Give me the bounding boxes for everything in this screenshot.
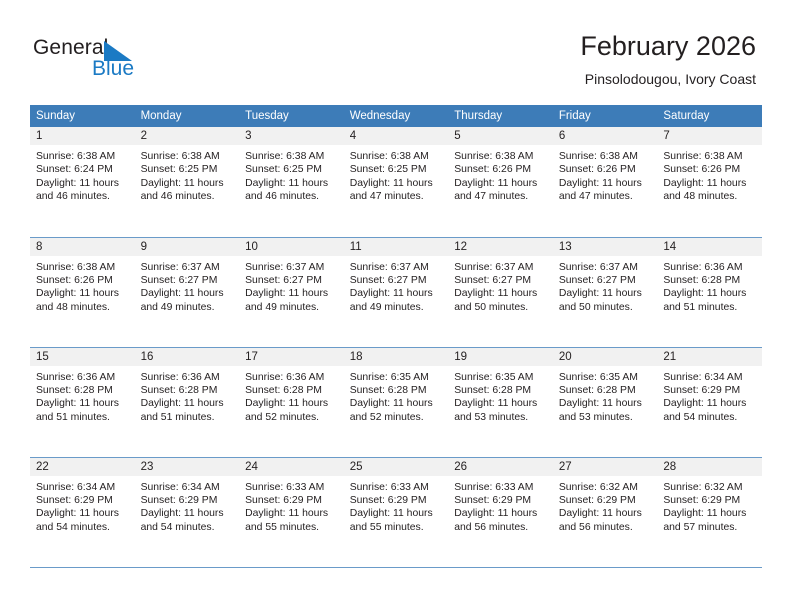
day-cell[interactable]: 16 Sunrise: 6:36 AM Sunset: 6:28 PM Dayl… [135, 347, 240, 457]
weekday-header-tuesday: Tuesday [239, 105, 344, 127]
weekday-header-sunday: Sunday [30, 105, 135, 127]
sunset-text: Sunset: 6:29 PM [663, 384, 757, 397]
day-cell[interactable]: 10 Sunrise: 6:37 AM Sunset: 6:27 PM Dayl… [239, 237, 344, 347]
sunset-text: Sunset: 6:29 PM [454, 494, 548, 507]
day-cell[interactable]: 5 Sunrise: 6:38 AM Sunset: 6:26 PM Dayli… [448, 127, 553, 237]
day-info: Sunrise: 6:34 AM Sunset: 6:29 PM Dayligh… [135, 476, 240, 535]
calendar-page: General Blue February 2026 Pinsolodougou… [0, 0, 792, 612]
day-number: 18 [344, 348, 449, 366]
sunrise-text: Sunrise: 6:37 AM [141, 261, 235, 274]
daylight-text-line1: Daylight: 11 hours [350, 287, 444, 300]
sunset-text: Sunset: 6:27 PM [454, 274, 548, 287]
daylight-text-line2: and 52 minutes. [245, 411, 339, 424]
week-row: 22 Sunrise: 6:34 AM Sunset: 6:29 PM Dayl… [30, 457, 762, 567]
sunset-text: Sunset: 6:29 PM [36, 494, 130, 507]
sunrise-text: Sunrise: 6:33 AM [454, 481, 548, 494]
daylight-text-line2: and 47 minutes. [454, 190, 548, 203]
day-number: 26 [448, 458, 553, 476]
weekday-header-monday: Monday [135, 105, 240, 127]
day-info: Sunrise: 6:35 AM Sunset: 6:28 PM Dayligh… [553, 366, 658, 425]
day-info: Sunrise: 6:33 AM Sunset: 6:29 PM Dayligh… [239, 476, 344, 535]
daylight-text-line1: Daylight: 11 hours [245, 397, 339, 410]
sunset-text: Sunset: 6:29 PM [141, 494, 235, 507]
sunrise-text: Sunrise: 6:36 AM [245, 371, 339, 384]
daylight-text-line2: and 54 minutes. [141, 521, 235, 534]
day-number: 19 [448, 348, 553, 366]
sunrise-text: Sunrise: 6:33 AM [350, 481, 444, 494]
daylight-text-line2: and 55 minutes. [245, 521, 339, 534]
daylight-text-line2: and 49 minutes. [141, 301, 235, 314]
daylight-text-line1: Daylight: 11 hours [350, 177, 444, 190]
day-cell[interactable]: 23 Sunrise: 6:34 AM Sunset: 6:29 PM Dayl… [135, 457, 240, 567]
day-cell[interactable]: 6 Sunrise: 6:38 AM Sunset: 6:26 PM Dayli… [553, 127, 658, 237]
sunrise-text: Sunrise: 6:35 AM [454, 371, 548, 384]
daylight-text-line2: and 53 minutes. [454, 411, 548, 424]
day-number: 21 [657, 348, 762, 366]
sunset-text: Sunset: 6:25 PM [141, 163, 235, 176]
sunset-text: Sunset: 6:24 PM [36, 163, 130, 176]
day-info: Sunrise: 6:37 AM Sunset: 6:27 PM Dayligh… [553, 256, 658, 315]
day-info: Sunrise: 6:34 AM Sunset: 6:29 PM Dayligh… [657, 366, 762, 425]
day-cell[interactable]: 2 Sunrise: 6:38 AM Sunset: 6:25 PM Dayli… [135, 127, 240, 237]
day-cell[interactable]: 1 Sunrise: 6:38 AM Sunset: 6:24 PM Dayli… [30, 127, 135, 237]
day-number: 1 [30, 127, 135, 145]
sunrise-text: Sunrise: 6:37 AM [559, 261, 653, 274]
daylight-text-line2: and 51 minutes. [141, 411, 235, 424]
sunset-text: Sunset: 6:26 PM [454, 163, 548, 176]
week-row: 8 Sunrise: 6:38 AM Sunset: 6:26 PM Dayli… [30, 237, 762, 347]
day-number: 2 [135, 127, 240, 145]
daylight-text-line2: and 51 minutes. [663, 301, 757, 314]
daylight-text-line2: and 47 minutes. [559, 190, 653, 203]
sunset-text: Sunset: 6:29 PM [350, 494, 444, 507]
sunrise-text: Sunrise: 6:32 AM [663, 481, 757, 494]
daylight-text-line1: Daylight: 11 hours [36, 507, 130, 520]
sunrise-text: Sunrise: 6:37 AM [245, 261, 339, 274]
sunrise-text: Sunrise: 6:38 AM [454, 150, 548, 163]
daylight-text-line2: and 57 minutes. [663, 521, 757, 534]
daylight-text-line1: Daylight: 11 hours [454, 287, 548, 300]
sunset-text: Sunset: 6:27 PM [141, 274, 235, 287]
weekday-header-saturday: Saturday [657, 105, 762, 127]
daylight-text-line2: and 47 minutes. [350, 190, 444, 203]
daylight-text-line2: and 46 minutes. [36, 190, 130, 203]
sunset-text: Sunset: 6:26 PM [36, 274, 130, 287]
day-info: Sunrise: 6:37 AM Sunset: 6:27 PM Dayligh… [448, 256, 553, 315]
daylight-text-line2: and 51 minutes. [36, 411, 130, 424]
daylight-text-line1: Daylight: 11 hours [245, 507, 339, 520]
sunrise-text: Sunrise: 6:38 AM [36, 150, 130, 163]
weekday-header-thursday: Thursday [448, 105, 553, 127]
sunset-text: Sunset: 6:29 PM [663, 494, 757, 507]
day-info: Sunrise: 6:32 AM Sunset: 6:29 PM Dayligh… [657, 476, 762, 535]
day-cell[interactable]: 22 Sunrise: 6:34 AM Sunset: 6:29 PM Dayl… [30, 457, 135, 567]
sunrise-text: Sunrise: 6:34 AM [663, 371, 757, 384]
sunset-text: Sunset: 6:25 PM [245, 163, 339, 176]
day-cell[interactable]: 25 Sunrise: 6:33 AM Sunset: 6:29 PM Dayl… [344, 457, 449, 567]
day-cell[interactable]: 28 Sunrise: 6:32 AM Sunset: 6:29 PM Dayl… [657, 457, 762, 567]
daylight-text-line1: Daylight: 11 hours [663, 177, 757, 190]
day-cell[interactable]: 11 Sunrise: 6:37 AM Sunset: 6:27 PM Dayl… [344, 237, 449, 347]
day-number: 27 [553, 458, 658, 476]
day-info: Sunrise: 6:38 AM Sunset: 6:26 PM Dayligh… [657, 145, 762, 204]
sunset-text: Sunset: 6:27 PM [245, 274, 339, 287]
day-cell[interactable]: 19 Sunrise: 6:35 AM Sunset: 6:28 PM Dayl… [448, 347, 553, 457]
daylight-text-line2: and 48 minutes. [36, 301, 130, 314]
day-cell[interactable]: 13 Sunrise: 6:37 AM Sunset: 6:27 PM Dayl… [553, 237, 658, 347]
daylight-text-line2: and 54 minutes. [36, 521, 130, 534]
day-info: Sunrise: 6:33 AM Sunset: 6:29 PM Dayligh… [448, 476, 553, 535]
daylight-text-line1: Daylight: 11 hours [454, 177, 548, 190]
daylight-text-line1: Daylight: 11 hours [245, 177, 339, 190]
sunset-text: Sunset: 6:28 PM [559, 384, 653, 397]
daylight-text-line1: Daylight: 11 hours [350, 507, 444, 520]
weekday-header-wednesday: Wednesday [344, 105, 449, 127]
day-number: 9 [135, 238, 240, 256]
daylight-text-line1: Daylight: 11 hours [559, 287, 653, 300]
day-cell[interactable]: 8 Sunrise: 6:38 AM Sunset: 6:26 PM Dayli… [30, 237, 135, 347]
day-info: Sunrise: 6:36 AM Sunset: 6:28 PM Dayligh… [30, 366, 135, 425]
daylight-text-line1: Daylight: 11 hours [245, 287, 339, 300]
day-info: Sunrise: 6:38 AM Sunset: 6:26 PM Dayligh… [553, 145, 658, 204]
day-cell[interactable]: 9 Sunrise: 6:37 AM Sunset: 6:27 PM Dayli… [135, 237, 240, 347]
week-row: 1 Sunrise: 6:38 AM Sunset: 6:24 PM Dayli… [30, 127, 762, 237]
day-number: 6 [553, 127, 658, 145]
daylight-text-line2: and 49 minutes. [350, 301, 444, 314]
day-info: Sunrise: 6:38 AM Sunset: 6:25 PM Dayligh… [239, 145, 344, 204]
daylight-text-line2: and 53 minutes. [559, 411, 653, 424]
day-info: Sunrise: 6:35 AM Sunset: 6:28 PM Dayligh… [448, 366, 553, 425]
sunrise-text: Sunrise: 6:36 AM [36, 371, 130, 384]
day-info: Sunrise: 6:37 AM Sunset: 6:27 PM Dayligh… [239, 256, 344, 315]
sunset-text: Sunset: 6:28 PM [663, 274, 757, 287]
sunrise-text: Sunrise: 6:35 AM [559, 371, 653, 384]
daylight-text-line1: Daylight: 11 hours [141, 287, 235, 300]
sunrise-text: Sunrise: 6:37 AM [350, 261, 444, 274]
sunset-text: Sunset: 6:28 PM [350, 384, 444, 397]
sunset-text: Sunset: 6:28 PM [141, 384, 235, 397]
day-number: 12 [448, 238, 553, 256]
daylight-text-line1: Daylight: 11 hours [141, 397, 235, 410]
daylight-text-line2: and 54 minutes. [663, 411, 757, 424]
day-number: 3 [239, 127, 344, 145]
sunset-text: Sunset: 6:28 PM [36, 384, 130, 397]
sunset-text: Sunset: 6:28 PM [245, 384, 339, 397]
day-cell[interactable]: 20 Sunrise: 6:35 AM Sunset: 6:28 PM Dayl… [553, 347, 658, 457]
day-number: 11 [344, 238, 449, 256]
day-info: Sunrise: 6:34 AM Sunset: 6:29 PM Dayligh… [30, 476, 135, 535]
daylight-text-line1: Daylight: 11 hours [36, 177, 130, 190]
day-info: Sunrise: 6:36 AM Sunset: 6:28 PM Dayligh… [239, 366, 344, 425]
sunset-text: Sunset: 6:27 PM [350, 274, 444, 287]
page-header: General Blue February 2026 Pinsolodougou… [0, 0, 792, 104]
sunrise-text: Sunrise: 6:38 AM [350, 150, 444, 163]
sunrise-text: Sunrise: 6:37 AM [454, 261, 548, 274]
sunset-text: Sunset: 6:29 PM [559, 494, 653, 507]
daylight-text-line2: and 48 minutes. [663, 190, 757, 203]
brand-name-blue: Blue [92, 57, 134, 81]
day-number: 14 [657, 238, 762, 256]
day-number: 15 [30, 348, 135, 366]
sunset-text: Sunset: 6:28 PM [454, 384, 548, 397]
day-number: 17 [239, 348, 344, 366]
week-row: 15 Sunrise: 6:36 AM Sunset: 6:28 PM Dayl… [30, 347, 762, 457]
sunrise-text: Sunrise: 6:34 AM [36, 481, 130, 494]
daylight-text-line2: and 56 minutes. [454, 521, 548, 534]
day-number: 5 [448, 127, 553, 145]
weekday-header-friday: Friday [553, 105, 658, 127]
day-info: Sunrise: 6:38 AM Sunset: 6:26 PM Dayligh… [30, 256, 135, 315]
daylight-text-line1: Daylight: 11 hours [559, 397, 653, 410]
day-info: Sunrise: 6:37 AM Sunset: 6:27 PM Dayligh… [135, 256, 240, 315]
day-number: 13 [553, 238, 658, 256]
daylight-text-line1: Daylight: 11 hours [36, 287, 130, 300]
day-info: Sunrise: 6:38 AM Sunset: 6:24 PM Dayligh… [30, 145, 135, 204]
day-cell[interactable]: 17 Sunrise: 6:36 AM Sunset: 6:28 PM Dayl… [239, 347, 344, 457]
day-info: Sunrise: 6:37 AM Sunset: 6:27 PM Dayligh… [344, 256, 449, 315]
day-number: 8 [30, 238, 135, 256]
daylight-text-line2: and 56 minutes. [559, 521, 653, 534]
day-cell[interactable]: 27 Sunrise: 6:32 AM Sunset: 6:29 PM Dayl… [553, 457, 658, 567]
daylight-text-line1: Daylight: 11 hours [350, 397, 444, 410]
daylight-text-line2: and 50 minutes. [454, 301, 548, 314]
day-cell[interactable]: 18 Sunrise: 6:35 AM Sunset: 6:28 PM Dayl… [344, 347, 449, 457]
brand-logo[interactable]: General Blue [33, 36, 233, 84]
day-number: 10 [239, 238, 344, 256]
sunrise-text: Sunrise: 6:36 AM [663, 261, 757, 274]
day-cell[interactable]: 14 Sunrise: 6:36 AM Sunset: 6:28 PM Dayl… [657, 237, 762, 347]
page-subtitle: Pinsolodougou, Ivory Coast [580, 69, 756, 89]
day-cell[interactable]: 3 Sunrise: 6:38 AM Sunset: 6:25 PM Dayli… [239, 127, 344, 237]
daylight-text-line1: Daylight: 11 hours [454, 397, 548, 410]
calendar-body: 1 Sunrise: 6:38 AM Sunset: 6:24 PM Dayli… [30, 127, 762, 567]
daylight-text-line1: Daylight: 11 hours [663, 287, 757, 300]
sunrise-text: Sunrise: 6:38 AM [141, 150, 235, 163]
day-info: Sunrise: 6:38 AM Sunset: 6:25 PM Dayligh… [344, 145, 449, 204]
day-cell[interactable]: 4 Sunrise: 6:38 AM Sunset: 6:25 PM Dayli… [344, 127, 449, 237]
day-number: 4 [344, 127, 449, 145]
daylight-text-line1: Daylight: 11 hours [141, 177, 235, 190]
weekday-header-row: Sunday Monday Tuesday Wednesday Thursday… [30, 105, 762, 127]
title-block: February 2026 Pinsolodougou, Ivory Coast [580, 30, 756, 89]
daylight-text-line1: Daylight: 11 hours [559, 177, 653, 190]
day-info: Sunrise: 6:36 AM Sunset: 6:28 PM Dayligh… [657, 256, 762, 315]
sunrise-text: Sunrise: 6:38 AM [36, 261, 130, 274]
daylight-text-line1: Daylight: 11 hours [141, 507, 235, 520]
sunrise-text: Sunrise: 6:33 AM [245, 481, 339, 494]
sunset-text: Sunset: 6:26 PM [559, 163, 653, 176]
day-number: 7 [657, 127, 762, 145]
daylight-text-line2: and 52 minutes. [350, 411, 444, 424]
daylight-text-line1: Daylight: 11 hours [559, 507, 653, 520]
calendar-grid: Sunday Monday Tuesday Wednesday Thursday… [30, 105, 762, 568]
sunset-text: Sunset: 6:26 PM [663, 163, 757, 176]
day-cell[interactable]: 7 Sunrise: 6:38 AM Sunset: 6:26 PM Dayli… [657, 127, 762, 237]
daylight-text-line1: Daylight: 11 hours [454, 507, 548, 520]
day-info: Sunrise: 6:36 AM Sunset: 6:28 PM Dayligh… [135, 366, 240, 425]
day-cell[interactable]: 12 Sunrise: 6:37 AM Sunset: 6:27 PM Dayl… [448, 237, 553, 347]
sunrise-text: Sunrise: 6:38 AM [663, 150, 757, 163]
daylight-text-line2: and 46 minutes. [245, 190, 339, 203]
day-number: 20 [553, 348, 658, 366]
day-info: Sunrise: 6:38 AM Sunset: 6:26 PM Dayligh… [448, 145, 553, 204]
sunrise-text: Sunrise: 6:35 AM [350, 371, 444, 384]
daylight-text-line2: and 49 minutes. [245, 301, 339, 314]
day-number: 25 [344, 458, 449, 476]
day-number: 22 [30, 458, 135, 476]
sunrise-text: Sunrise: 6:38 AM [559, 150, 653, 163]
day-info: Sunrise: 6:38 AM Sunset: 6:25 PM Dayligh… [135, 145, 240, 204]
sunset-text: Sunset: 6:27 PM [559, 274, 653, 287]
sunrise-text: Sunrise: 6:38 AM [245, 150, 339, 163]
day-info: Sunrise: 6:33 AM Sunset: 6:29 PM Dayligh… [344, 476, 449, 535]
page-title: February 2026 [580, 30, 756, 63]
day-number: 23 [135, 458, 240, 476]
daylight-text-line1: Daylight: 11 hours [663, 397, 757, 410]
sunrise-text: Sunrise: 6:34 AM [141, 481, 235, 494]
day-number: 24 [239, 458, 344, 476]
day-cell[interactable]: 24 Sunrise: 6:33 AM Sunset: 6:29 PM Dayl… [239, 457, 344, 567]
daylight-text-line1: Daylight: 11 hours [36, 397, 130, 410]
sunrise-text: Sunrise: 6:36 AM [141, 371, 235, 384]
daylight-text-line2: and 50 minutes. [559, 301, 653, 314]
day-cell[interactable]: 21 Sunrise: 6:34 AM Sunset: 6:29 PM Dayl… [657, 347, 762, 457]
day-info: Sunrise: 6:35 AM Sunset: 6:28 PM Dayligh… [344, 366, 449, 425]
daylight-text-line2: and 55 minutes. [350, 521, 444, 534]
sunrise-text: Sunrise: 6:32 AM [559, 481, 653, 494]
daylight-text-line2: and 46 minutes. [141, 190, 235, 203]
daylight-text-line1: Daylight: 11 hours [663, 507, 757, 520]
sunset-text: Sunset: 6:25 PM [350, 163, 444, 176]
day-cell[interactable]: 15 Sunrise: 6:36 AM Sunset: 6:28 PM Dayl… [30, 347, 135, 457]
day-cell[interactable]: 26 Sunrise: 6:33 AM Sunset: 6:29 PM Dayl… [448, 457, 553, 567]
day-info: Sunrise: 6:32 AM Sunset: 6:29 PM Dayligh… [553, 476, 658, 535]
sunset-text: Sunset: 6:29 PM [245, 494, 339, 507]
day-number: 16 [135, 348, 240, 366]
day-number: 28 [657, 458, 762, 476]
